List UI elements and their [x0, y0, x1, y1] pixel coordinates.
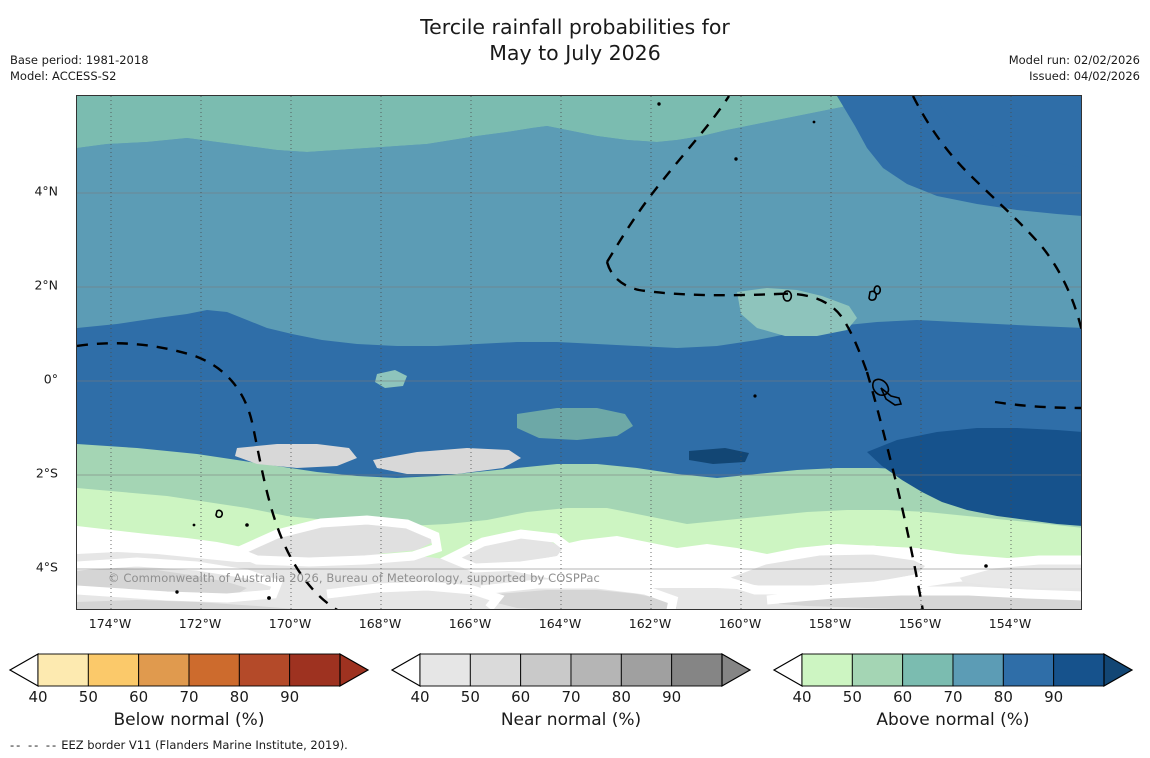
above-normal-label: Above normal (%): [772, 710, 1134, 730]
near-normal-swatch-3: [571, 654, 621, 686]
above-normal-tick-80: 80: [994, 688, 1013, 706]
above-normal-under-arrow: [774, 654, 802, 686]
x-tick-label: 162°W: [629, 616, 671, 631]
x-tick-label: 156°W: [899, 616, 941, 631]
below-normal-swatch-2: [139, 654, 189, 686]
near-normal-swatch-5: [672, 654, 722, 686]
x-tick-label: 166°W: [449, 616, 491, 631]
eez-legend: -- -- --EEZ border V11 (Flanders Marine …: [10, 738, 348, 752]
y-tick-label: 4°N: [34, 184, 66, 199]
map-plot-area[interactable]: [76, 95, 1082, 610]
near-normal-swatch-1: [470, 654, 520, 686]
eez-dash-swatch: -- -- --: [10, 738, 58, 752]
near-normal-swatch-0: [420, 654, 470, 686]
above-normal-tick-60: 60: [893, 688, 912, 706]
near-normal-colorbar-svg: [390, 652, 752, 688]
below-normal-over-arrow: [340, 654, 368, 686]
x-tick-label: 172°W: [179, 616, 221, 631]
y-tick-text: 4°N: [34, 184, 66, 199]
below-normal-tick-70: 70: [179, 688, 198, 706]
near-normal-tick-70: 70: [561, 688, 580, 706]
contour-patch-lowprob-c: [517, 408, 633, 440]
y-tick-label: 2°N: [34, 278, 66, 293]
map-canvas: [77, 96, 1082, 610]
below-normal-swatch-4: [239, 654, 289, 686]
below-normal-tick-90: 90: [280, 688, 299, 706]
near-normal-tick-40: 40: [410, 688, 429, 706]
eez-legend-text: EEZ border V11 (Flanders Marine Institut…: [61, 738, 348, 752]
above-normal-over-arrow: [1104, 654, 1132, 686]
above-normal-tick-row: 405060708090: [772, 688, 1134, 708]
below-normal-tick-50: 50: [79, 688, 98, 706]
near-normal-tick-60: 60: [511, 688, 530, 706]
above-normal-swatch-5: [1054, 654, 1104, 686]
x-tick-label: 154°W: [989, 616, 1031, 631]
below-normal-colorbar-svg: [8, 652, 370, 688]
colorbar-near-normal[interactable]: 405060708090Near normal (%): [390, 652, 752, 732]
near-normal-tick-50: 50: [461, 688, 480, 706]
near-normal-label: Near normal (%): [390, 710, 752, 730]
near-normal-tick-90: 90: [662, 688, 681, 706]
y-tick-text: 2°N: [34, 278, 66, 293]
below-normal-tick-80: 80: [230, 688, 249, 706]
below-normal-swatch-1: [88, 654, 138, 686]
colorbar-below-normal[interactable]: 405060708090Below normal (%): [8, 652, 370, 732]
y-tick-label: 4°S: [36, 560, 66, 575]
near-normal-swatch-4: [621, 654, 671, 686]
metadata-right: Model run: 02/02/2026 Issued: 04/02/2026: [1009, 53, 1140, 84]
above-normal-swatch-4: [1003, 654, 1053, 686]
x-tick-label: 158°W: [809, 616, 851, 631]
near-normal-tick-80: 80: [612, 688, 631, 706]
y-tick-label: 2°S: [36, 466, 66, 481]
y-tick-text: 4°S: [36, 560, 66, 575]
x-tick-label: 160°W: [719, 616, 761, 631]
figure-root: Tercile rainfall probabilities for May t…: [0, 0, 1150, 758]
above-normal-tick-90: 90: [1044, 688, 1063, 706]
below-normal-label: Below normal (%): [8, 710, 370, 730]
x-tick-label: 168°W: [359, 616, 401, 631]
x-tick-label: 170°W: [269, 616, 311, 631]
colorbar-above-normal[interactable]: 405060708090Above normal (%): [772, 652, 1134, 732]
y-tick-text: 2°S: [36, 466, 66, 481]
y-tick-text: 0°: [44, 372, 66, 387]
above-normal-tick-50: 50: [843, 688, 862, 706]
near-normal-swatch-2: [521, 654, 571, 686]
below-normal-tick-40: 40: [28, 688, 47, 706]
below-normal-swatch-0: [38, 654, 88, 686]
near-normal-tick-row: 405060708090: [390, 688, 752, 708]
above-normal-swatch-1: [852, 654, 902, 686]
x-tick-label: 164°W: [539, 616, 581, 631]
above-normal-swatch-2: [903, 654, 953, 686]
above-normal-swatch-0: [802, 654, 852, 686]
metadata-left: Base period: 1981-2018 Model: ACCESS-S2: [10, 53, 149, 84]
above-normal-swatch-3: [953, 654, 1003, 686]
above-normal-tick-70: 70: [943, 688, 962, 706]
below-normal-under-arrow: [10, 654, 38, 686]
y-tick-label: 0°: [44, 372, 66, 387]
below-normal-tick-60: 60: [129, 688, 148, 706]
below-normal-swatch-5: [290, 654, 340, 686]
x-tick-label: 174°W: [89, 616, 131, 631]
below-normal-tick-row: 405060708090: [8, 688, 370, 708]
near-normal-under-arrow: [392, 654, 420, 686]
page-title: Tercile rainfall probabilities for May t…: [0, 14, 1150, 66]
below-normal-swatch-3: [189, 654, 239, 686]
above-normal-tick-40: 40: [792, 688, 811, 706]
above-normal-colorbar-svg: [772, 652, 1134, 688]
near-normal-over-arrow: [722, 654, 750, 686]
